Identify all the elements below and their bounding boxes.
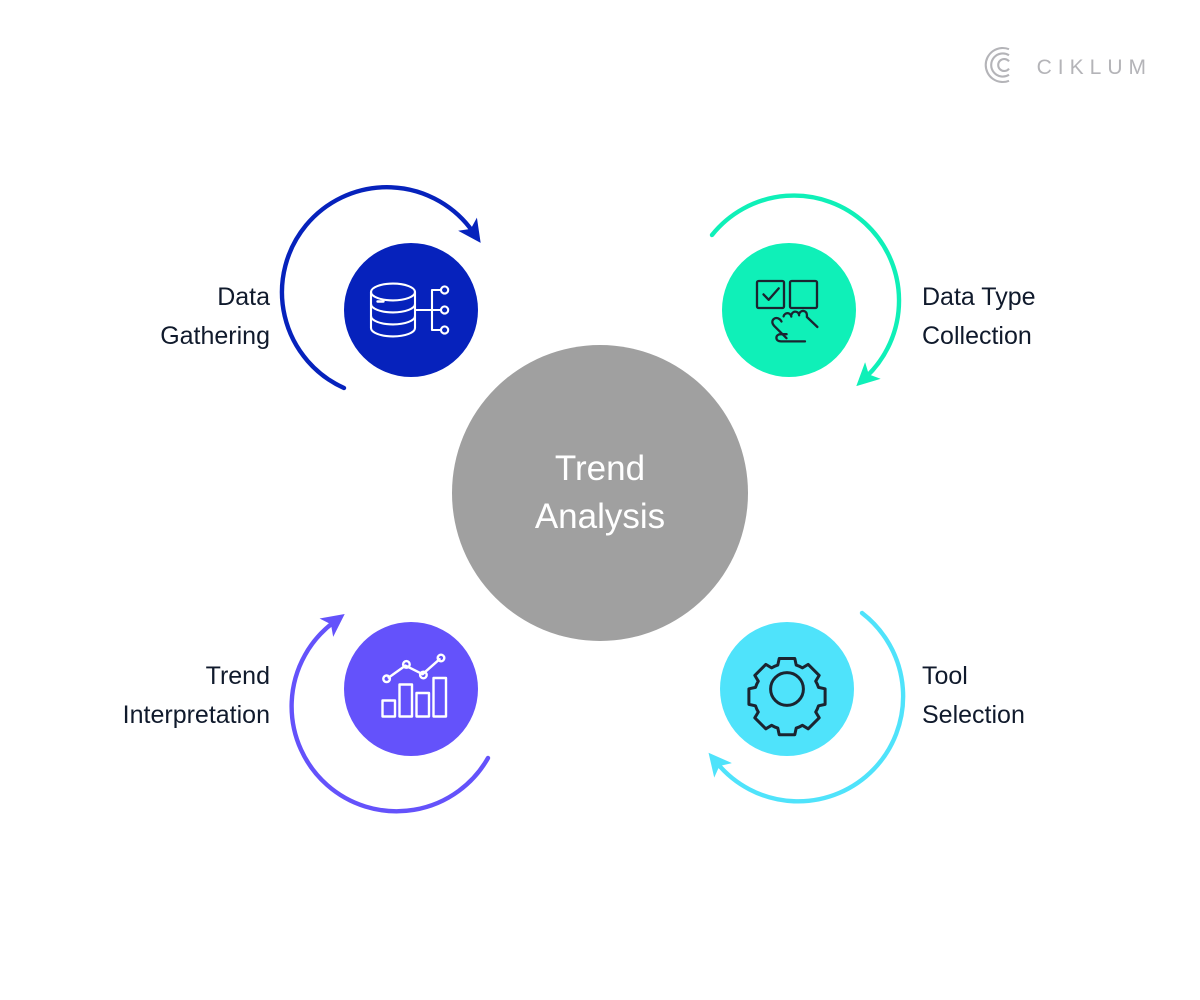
node-label-data-gathering: Data Gathering [0, 278, 270, 356]
hub-circle [452, 345, 748, 641]
node-tool-selection[interactable] [717, 613, 903, 801]
node-data-gathering[interactable] [282, 187, 478, 388]
node-trend-interpretation[interactable] [292, 622, 488, 811]
node-label-trend-interpretation: Trend Interpretation [0, 657, 270, 735]
node-data-type-collection[interactable] [712, 196, 899, 377]
trend-analysis-cycle-diagram: Trend Analysis Data Gathering Data Type … [0, 0, 1200, 1000]
node-circle-data-type-collection [722, 243, 856, 377]
node-label-data-type-collection: Data Type Collection [922, 278, 1192, 356]
node-label-tool-selection: Tool Selection [922, 657, 1192, 735]
